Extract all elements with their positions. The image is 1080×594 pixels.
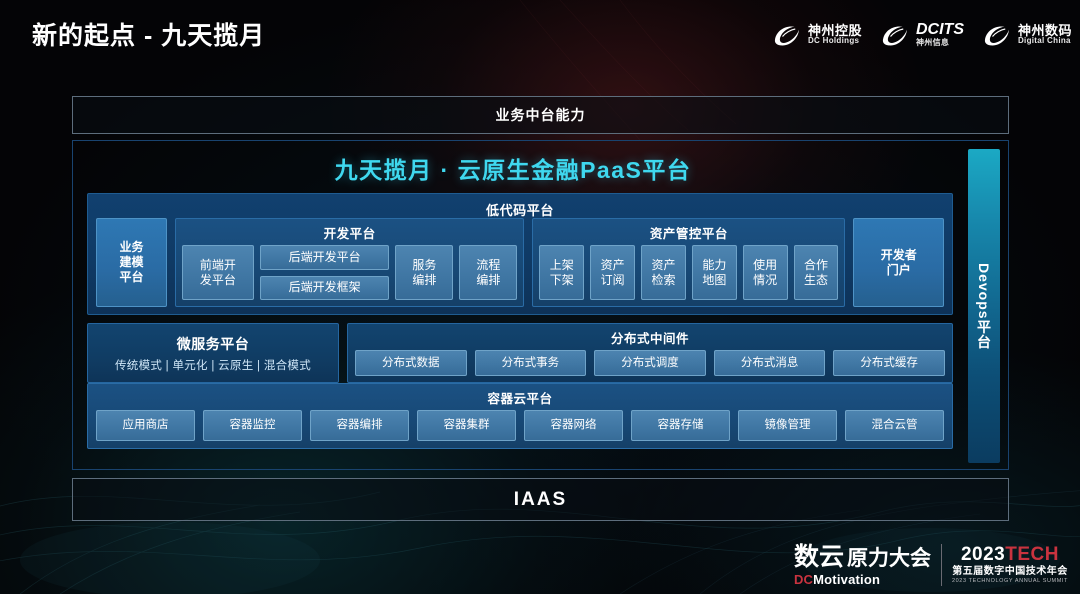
brand-summit-cn: 第五届数字中国技术年会 [952,567,1068,578]
brand-left-block: 数云 原力大会 DCMotivation [794,545,931,586]
tile-backend-dev-framework[interactable]: 后端开发框架 [260,276,389,301]
tile-developer-portal[interactable]: 开发者 门户 [853,218,944,307]
tile-asset-subscription[interactable]: 资产 订阅 [590,245,635,300]
brand-cn-part2: 原力大会 [847,548,931,569]
brand-year-row: 2023TECH [961,545,1059,565]
brand-cn-row: 数云 原力大会 [794,545,931,570]
logo-text-dcits: DCITS 神州信息 [916,22,964,47]
tile-distributed-transaction[interactable]: 分布式事务 [475,350,587,376]
brand-year-number: 2023 [961,544,1005,565]
logo-cn-label: DCITS [916,22,964,39]
logo-text-digital-china: 神州数码 Digital China [1018,24,1072,46]
logo-dc-holdings: 神州控股 DC Holdings [772,23,862,47]
logo-bar: 神州控股 DC Holdings DCITS 神州信息 神州数码 Digital… [772,22,1072,47]
dc-swirl-logo-icon [880,23,910,47]
brand-divider [941,544,942,586]
distributed-middleware-title: 分布式中间件 [348,324,952,350]
tile-hybrid-cloud-management[interactable]: 混合云管 [845,410,944,441]
brand-year-tech: TECH [1005,544,1059,565]
tile-business-modeling-platform[interactable]: 业务 建模 平台 [96,218,167,307]
tile-process-orchestration[interactable]: 流程 编排 [459,245,517,300]
logo-text-dc-holdings: 神州控股 DC Holdings [808,24,862,46]
devops-platform-label: Devops平台 [974,263,994,350]
logo-cn-label: 神州控股 [808,24,862,38]
lowcode-platform-row: 低代码平台 业务 建模 平台 开发平台 前端开 发平台 后端开发平台 后端开发框… [87,193,953,315]
logo-en-label: DC Holdings [808,37,862,45]
container-cloud-row: 容器云平台 应用商店 容器监控 容器编排 容器集群 容器网络 容器存储 镜像管理… [87,383,953,449]
logo-dcits: DCITS 神州信息 [880,22,964,47]
business-midplatform-label: 业务中台能力 [496,105,586,125]
microservice-middleware-row: 微服务平台 传统模式 | 单元化 | 云原生 | 混合模式 分布式中间件 分布式… [87,323,953,383]
tile-image-management[interactable]: 镜像管理 [738,410,837,441]
page-header: 新的起点 - 九天揽月 神州控股 DC Holdings DCITS 神州信息 [0,0,1080,74]
dc-swirl-logo-icon [982,23,1012,47]
brand-cn-part1: 数云 [794,545,844,570]
distributed-middleware-group: 分布式中间件 分布式数据 分布式事务 分布式调度 分布式消息 分布式缓存 [347,323,953,383]
dc-swirl-logo-icon [772,23,802,47]
paas-platform-panel: 九天揽月 · 云原生金融PaaS平台 Devops平台 低代码平台 业务 建模 … [72,140,1009,470]
architecture-diagram: 业务中台能力 九天揽月 · 云原生金融PaaS平台 Devops平台 低代码平台… [72,96,1009,521]
logo-en-label: Digital China [1018,37,1072,45]
microservice-platform-box[interactable]: 微服务平台 传统模式 | 单元化 | 云原生 | 混合模式 [87,323,339,383]
asset-management-title: 资产管控平台 [533,219,844,245]
tile-container-network[interactable]: 容器网络 [524,410,623,441]
logo-cn-label: 神州数码 [1018,24,1072,38]
paas-platform-title: 九天揽月 · 云原生金融PaaS平台 [73,149,953,187]
brand-en-accent: DC [794,572,813,587]
microservice-platform-subtitle: 传统模式 | 单元化 | 云原生 | 混合模式 [115,357,311,373]
tile-service-orchestration[interactable]: 服务 编排 [395,245,453,300]
platform-layer-stack: 低代码平台 业务 建模 平台 开发平台 前端开 发平台 后端开发平台 后端开发框… [87,193,953,457]
tile-backend-dev-platform[interactable]: 后端开发平台 [260,245,389,270]
tile-partner-ecosystem[interactable]: 合作 生态 [794,245,839,300]
dev-platform-title: 开发平台 [176,219,523,245]
business-midplatform-bar: 业务中台能力 [72,96,1009,134]
tile-frontend-dev-platform[interactable]: 前端开 发平台 [182,245,254,300]
brand-summit-en: 2023 TECHNOLOGY ANNUAL SUMMIT [952,579,1068,585]
tile-container-cluster[interactable]: 容器集群 [417,410,516,441]
lowcode-platform-heading: 低代码平台 [88,194,952,219]
tile-container-orchestration[interactable]: 容器编排 [310,410,409,441]
tile-container-monitoring[interactable]: 容器监控 [203,410,302,441]
page-title: 新的起点 - 九天揽月 [32,16,265,52]
logo-en-label: 神州信息 [916,39,964,47]
tile-capability-map[interactable]: 能力 地图 [692,245,737,300]
tile-distributed-data[interactable]: 分布式数据 [355,350,467,376]
iaas-bar: IAAS [72,478,1009,521]
microservice-platform-title: 微服务平台 [177,334,250,354]
dev-platform-group: 开发平台 前端开 发平台 后端开发平台 后端开发框架 服务 编排 流程 编排 [175,218,524,307]
tile-distributed-scheduling[interactable]: 分布式调度 [594,350,706,376]
container-cloud-title: 容器云平台 [88,384,952,410]
tile-container-storage[interactable]: 容器存储 [631,410,730,441]
brand-en-row: DCMotivation [794,573,931,586]
tile-asset-search[interactable]: 资产 检索 [641,245,686,300]
tile-distributed-cache[interactable]: 分布式缓存 [833,350,945,376]
logo-digital-china: 神州数码 Digital China [982,23,1072,47]
tile-app-store[interactable]: 应用商店 [96,410,195,441]
conference-brand-logo: 数云 原力大会 DCMotivation 2023TECH 第五届数字中国技术年… [794,544,1068,586]
brand-en-rest: Motivation [813,572,880,587]
backend-tile-stack: 后端开发平台 后端开发框架 [260,245,389,300]
asset-management-group: 资产管控平台 上架 下架 资产 订阅 资产 检索 能力 地图 使用 情况 合作 … [532,218,845,307]
tile-asset-listing[interactable]: 上架 下架 [539,245,584,300]
devops-platform-bar[interactable]: Devops平台 [968,149,1000,463]
tile-usage-status[interactable]: 使用 情况 [743,245,788,300]
iaas-label: IAAS [514,489,567,511]
tile-distributed-messaging[interactable]: 分布式消息 [714,350,826,376]
brand-right-block: 2023TECH 第五届数字中国技术年会 2023 TECHNOLOGY ANN… [952,545,1068,585]
